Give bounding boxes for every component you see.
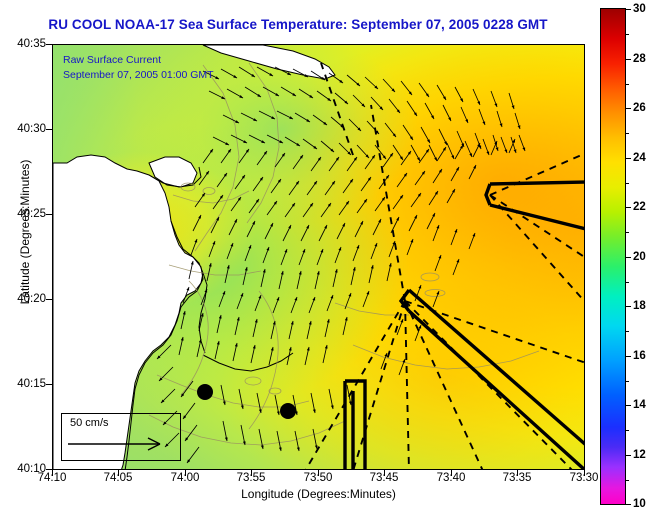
scale-key-label: 50 cm/s (70, 417, 109, 429)
y-tick-2 (46, 214, 52, 215)
colorbar-label-24: 24 (633, 152, 646, 164)
y-tick-3 (46, 299, 52, 300)
figure-title: RU COOL NOAA-17 Sea Surface Temperature:… (0, 17, 596, 32)
current-vectors (157, 67, 525, 463)
y-axis-title: Latitude (Degrees:Minutes) (18, 132, 32, 332)
x-tick-3 (251, 470, 252, 476)
colorbar-label-28: 28 (633, 53, 646, 65)
colorbar-minor-11 (626, 480, 629, 481)
colorbar-tick-24 (626, 158, 631, 159)
colorbar-minor-13 (626, 430, 629, 431)
colorbar-tick-30 (626, 9, 631, 10)
colorbar-label-20: 20 (633, 251, 646, 263)
x-tick-0 (52, 470, 53, 476)
colorbar-tick-12 (626, 455, 631, 456)
y-tick-1 (46, 129, 52, 130)
colorbar-minor-17 (626, 331, 629, 332)
x-tick-6 (451, 470, 452, 476)
colorbar-label-16: 16 (633, 350, 646, 362)
x-axis-title: Longitude (Degrees:Minutes) (52, 487, 585, 501)
colorbar-label-18: 18 (633, 300, 646, 312)
sst-map-figure: RU COOL NOAA-17 Sea Surface Temperature:… (0, 0, 651, 518)
colorbar-label-10: 10 (633, 498, 646, 510)
colorbar-minor-15 (626, 381, 629, 382)
colorbar-label-22: 22 (633, 201, 646, 213)
plot-annotation: Raw Surface Current September 07, 2005 0… (63, 53, 214, 83)
colorbar-label-12: 12 (633, 449, 646, 461)
colorbar-minor-27 (626, 84, 629, 85)
colorbar-minor-25 (626, 133, 629, 134)
colorbar-tick-18 (626, 306, 631, 307)
annotation-line-2: September 07, 2005 01:00 GMT (63, 68, 214, 83)
colorbar-gradient (600, 8, 626, 505)
x-tick-2 (185, 470, 186, 476)
map-canvas: Raw Surface Current September 07, 2005 0… (53, 45, 584, 469)
colorbar-label-14: 14 (633, 399, 646, 411)
colorbar-minor-29 (626, 34, 629, 35)
annotation-line-1: Raw Surface Current (63, 53, 214, 68)
surface-current-vector-layer (53, 45, 584, 469)
colorbar-tick-16 (626, 356, 631, 357)
map-plot-area: Raw Surface Current September 07, 2005 0… (52, 44, 585, 470)
x-tick-8 (584, 470, 585, 476)
y-tick-0 (46, 44, 52, 45)
colorbar-minor-19 (626, 282, 629, 283)
y-tick-label-0: 40:35 (2, 38, 46, 50)
scale-key-arrow-icon (66, 436, 174, 452)
x-tick-1 (118, 470, 119, 476)
colorbar-tick-22 (626, 207, 631, 208)
colorbar-minor-21 (626, 232, 629, 233)
colorbar-label-30: 30 (633, 3, 646, 15)
y-tick-label-4: 40:15 (2, 378, 46, 390)
y-tick-4 (46, 384, 52, 385)
velocity-scale-key: 50 cm/s (61, 413, 181, 461)
x-tick-5 (384, 470, 385, 476)
x-tick-7 (517, 470, 518, 476)
colorbar-tick-28 (626, 59, 631, 60)
colorbar-tick-14 (626, 405, 631, 406)
colorbar-tick-10 (626, 504, 631, 505)
colorbar-minor-23 (626, 183, 629, 184)
x-tick-4 (318, 470, 319, 476)
colorbar-label-26: 26 (633, 102, 646, 114)
colorbar-tick-20 (626, 257, 631, 258)
colorbar-tick-26 (626, 108, 631, 109)
